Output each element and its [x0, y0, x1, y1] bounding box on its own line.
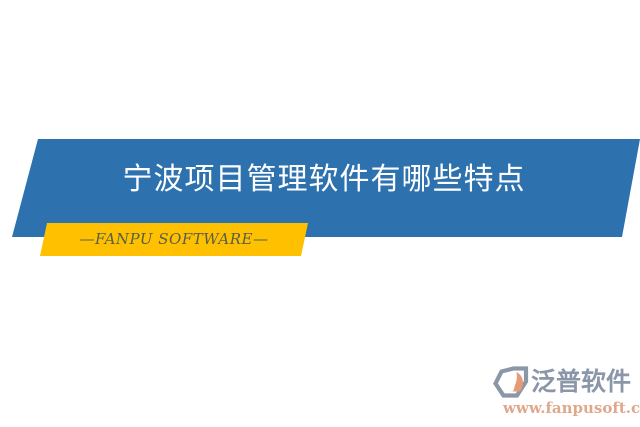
fanpu-logo-icon — [493, 366, 529, 398]
watermark-url: www.fanpusoft.com — [503, 399, 640, 417]
watermark: 泛普软件 www.fanpusoft.com — [493, 366, 638, 420]
page-title: 宁波项目管理软件有哪些特点 — [0, 159, 640, 201]
subtitle-text: —FANPU SOFTWARE— — [40, 229, 308, 250]
watermark-brand-name: 泛普软件 — [531, 367, 631, 397]
slide-canvas: 宁波项目管理软件有哪些特点 —FANPU SOFTWARE— 泛普软件 www.… — [0, 0, 640, 427]
watermark-brand-row: 泛普软件 — [493, 366, 631, 398]
